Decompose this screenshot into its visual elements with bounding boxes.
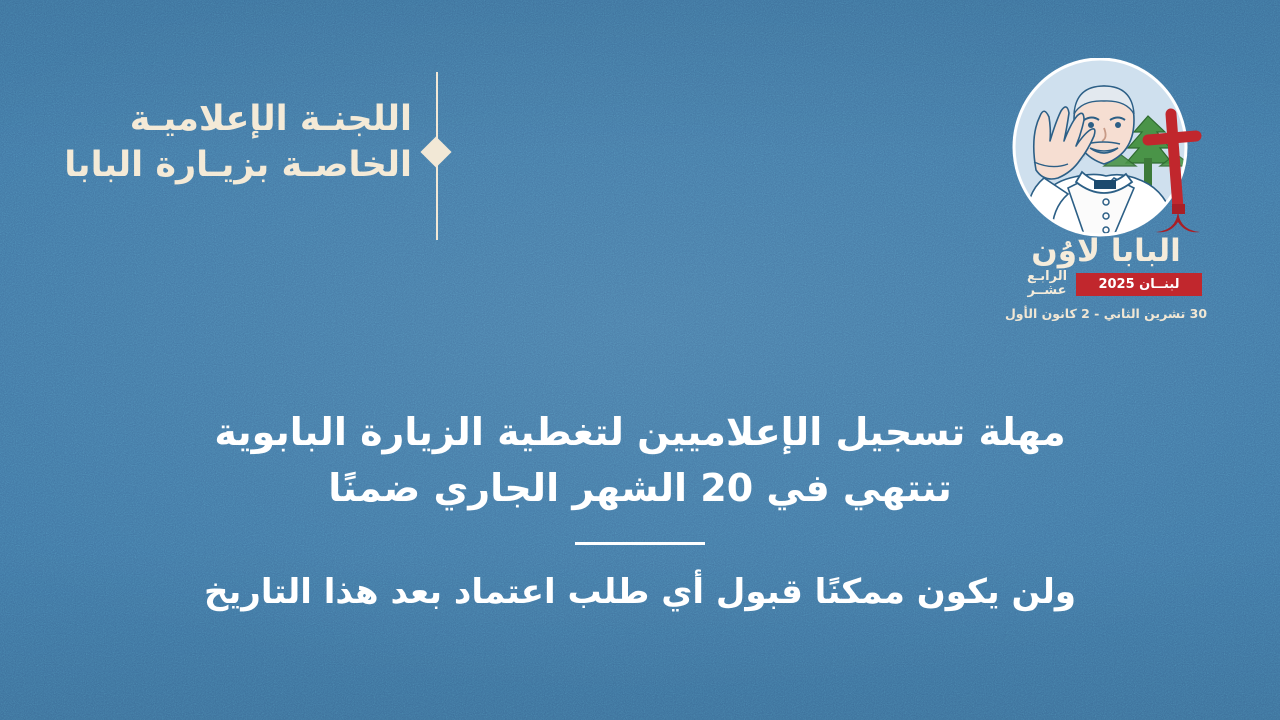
papal-visit-logo: البابا لاوُن الرابـع عشــر لبنــان 2025 …	[996, 58, 1216, 333]
announcement-headline-line-2: تنتهي في 20 الشهر الجاري ضمنًا	[90, 460, 1190, 516]
logo-pope-name: البابا لاوُن	[996, 236, 1216, 267]
logo-ordinal-line-2: عشــر	[1016, 284, 1078, 298]
logo-ordinal-line-1: الرابـع	[1016, 270, 1078, 284]
diamond-ornament-icon	[420, 136, 451, 167]
announcement-text-block: مهلة تسجيل الإعلاميين لتغطية الزيارة الب…	[90, 404, 1190, 617]
logo-banner-row: الرابـع عشــر لبنــان 2025	[996, 271, 1216, 305]
logo-country-year-banner: لبنــان 2025	[1076, 273, 1202, 296]
announcement-poster: اللجنـة الإعلاميـة الخاصـة بزيـارة الباب…	[0, 0, 1280, 720]
logo-wordmark: البابا لاوُن الرابـع عشــر لبنــان 2025 …	[996, 236, 1216, 321]
committee-title-line-1: اللجنـة الإعلاميـة	[60, 96, 412, 142]
committee-title-line-2: الخاصـة بزيـارة البابا	[60, 142, 412, 188]
pope-portrait-emblem-icon	[996, 58, 1216, 240]
logo-visit-dates: 30 تشرين الثاني - 2 كانون الأول	[996, 306, 1216, 321]
horizontal-divider	[575, 542, 705, 545]
announcement-headline-line-1: مهلة تسجيل الإعلاميين لتغطية الزيارة الب…	[90, 404, 1190, 460]
committee-title-block: اللجنـة الإعلاميـة الخاصـة بزيـارة الباب…	[60, 96, 412, 188]
announcement-headline: مهلة تسجيل الإعلاميين لتغطية الزيارة الب…	[90, 404, 1190, 516]
announcement-subline: ولن يكون ممكنًا قبول أي طلب اعتماد بعد ه…	[90, 569, 1190, 617]
logo-ordinal: الرابـع عشــر	[1016, 270, 1078, 297]
